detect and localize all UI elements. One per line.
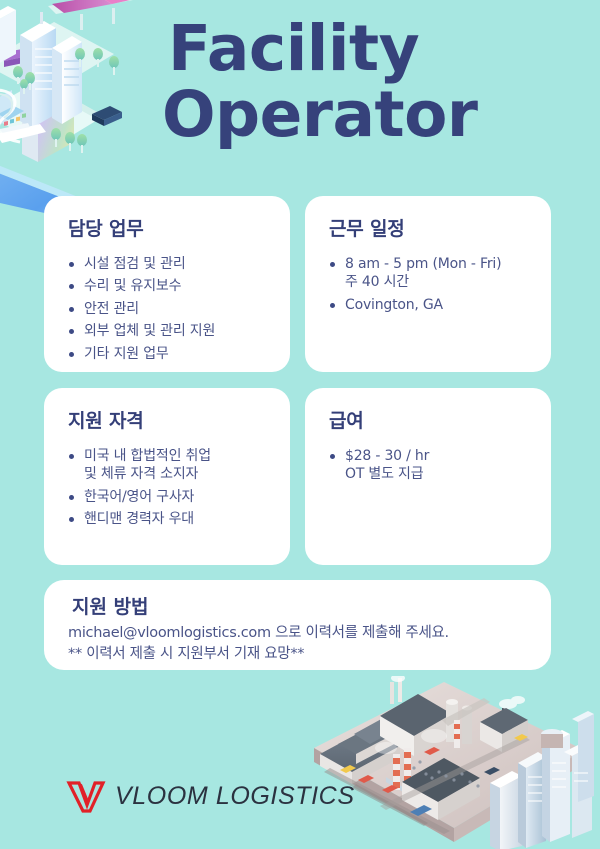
v-chevron-logo-icon — [66, 778, 106, 814]
card-work-schedule: 근무 일정 8 am - 5 pm (Mon - Fri) 주 40 시간 Co… — [305, 196, 551, 372]
list-item-continuation: OT 별도 지급 — [345, 465, 531, 483]
list-item-text: 미국 내 합법적인 취업 — [84, 448, 211, 464]
list-item-text: 기타 지원 업무 — [84, 346, 169, 362]
list-item-text: 시설 점검 및 관리 — [84, 256, 186, 272]
list-item-text: 한국어/영어 구사자 — [84, 489, 194, 505]
company-logo: VLOOM LOGISTICS — [66, 778, 355, 814]
list-item-text: 8 am - 5 pm (Mon - Fri) — [345, 256, 501, 272]
title-line-2: Operator — [162, 84, 588, 146]
card-heading-salary: 급여 — [329, 406, 531, 433]
responsibilities-list: 시설 점검 및 관리 수리 및 유지보수 안전 관리 외부 업체 및 관리 지원… — [68, 255, 270, 363]
list-item: 미국 내 합법적인 취업 및 체류 자격 소지자 — [68, 447, 270, 484]
list-item-continuation: 및 체류 자격 소지자 — [84, 465, 270, 483]
list-item: 시설 점검 및 관리 — [68, 255, 270, 273]
list-item-text: 수리 및 유지보수 — [84, 278, 181, 294]
logo-text: VLOOM LOGISTICS — [115, 782, 355, 811]
isometric-industrial-complex-illustration — [294, 676, 600, 849]
list-item: $28 - 30 / hr OT 별도 지급 — [329, 447, 531, 484]
card-heading-work-schedule: 근무 일정 — [329, 214, 531, 241]
card-heading-how-to-apply: 지원 방법 — [72, 592, 529, 619]
list-item: 외부 업체 및 관리 지원 — [68, 322, 270, 340]
list-item: 수리 및 유지보수 — [68, 277, 270, 295]
list-item: 안전 관리 — [68, 300, 270, 318]
apply-email-line[interactable]: michael@vloomlogistics.com 으로 이력서를 제출해 주… — [68, 623, 529, 644]
apply-note-line: ** 이력서 제출 시 지원부서 기재 요망** — [68, 644, 529, 665]
job-posting-poster: Facility Operator 담당 업무 시설 점검 및 관리 수리 및 … — [0, 0, 600, 849]
card-responsibilities: 담당 업무 시설 점검 및 관리 수리 및 유지보수 안전 관리 외부 업체 및… — [44, 196, 290, 372]
list-item-text: 핸디맨 경력자 우대 — [84, 511, 194, 527]
card-qualifications: 지원 자격 미국 내 합법적인 취업 및 체류 자격 소지자 한국어/영어 구사… — [44, 388, 290, 565]
list-item-text: Covington, GA — [345, 297, 443, 313]
list-item-text: 안전 관리 — [84, 301, 139, 317]
list-item: 기타 지원 업무 — [68, 345, 270, 363]
list-item-continuation: 주 40 시간 — [345, 273, 531, 291]
title-line-1: Facility — [168, 18, 588, 80]
work-schedule-list: 8 am - 5 pm (Mon - Fri) 주 40 시간 Covingto… — [329, 255, 531, 314]
card-heading-qualifications: 지원 자격 — [68, 406, 270, 433]
qualifications-list: 미국 내 합법적인 취업 및 체류 자격 소지자 한국어/영어 구사자 핸디맨 … — [68, 447, 270, 529]
card-salary: 급여 $28 - 30 / hr OT 별도 지급 — [305, 388, 551, 565]
list-item: 한국어/영어 구사자 — [68, 488, 270, 506]
list-item-text: $28 - 30 / hr — [345, 448, 429, 464]
page-title: Facility Operator — [168, 18, 588, 145]
list-item: 8 am - 5 pm (Mon - Fri) 주 40 시간 — [329, 255, 531, 292]
card-how-to-apply: 지원 방법 michael@vloomlogistics.com 으로 이력서를… — [44, 580, 551, 670]
list-item: 핸디맨 경력자 우대 — [68, 510, 270, 528]
list-item-text: 외부 업체 및 관리 지원 — [84, 323, 215, 339]
card-heading-responsibilities: 담당 업무 — [68, 214, 270, 241]
list-item: Covington, GA — [329, 296, 531, 314]
salary-list: $28 - 30 / hr OT 별도 지급 — [329, 447, 531, 484]
